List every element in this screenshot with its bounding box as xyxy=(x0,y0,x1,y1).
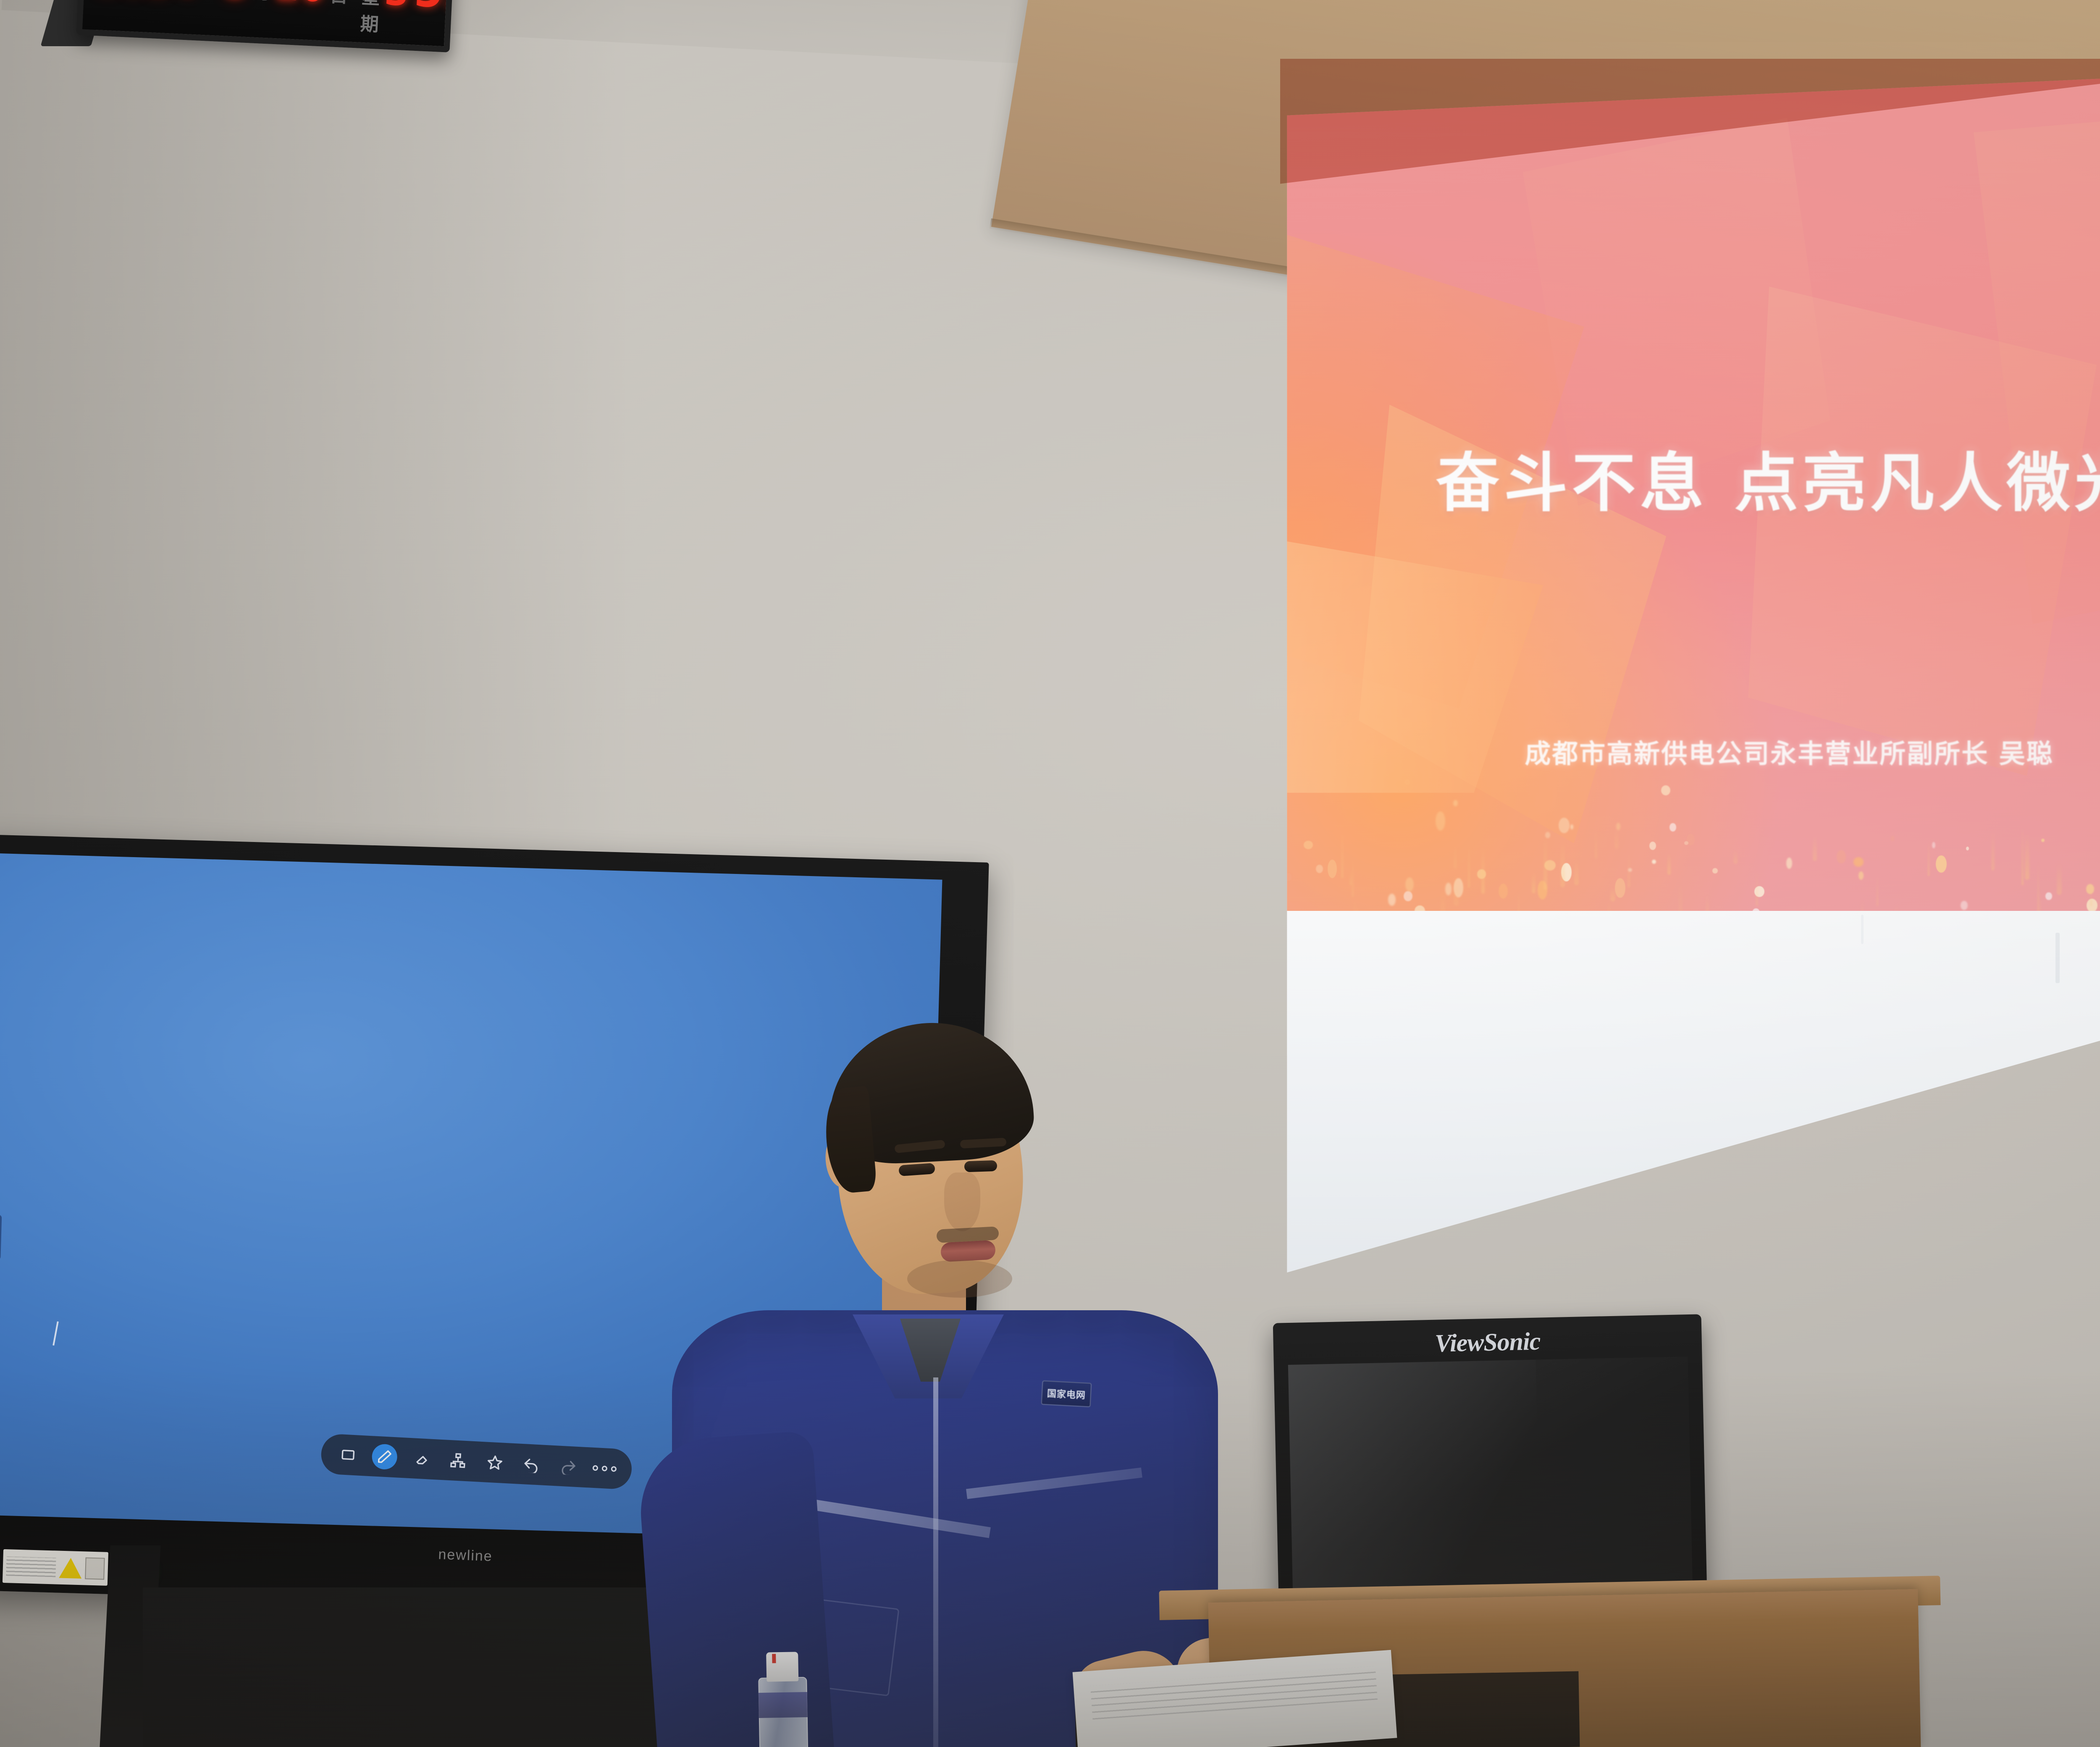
confetti-streak xyxy=(1627,850,1630,887)
confetti-streak xyxy=(1614,829,1619,849)
confetti-dot xyxy=(2041,839,2045,842)
clock-time: 51 xyxy=(413,0,454,11)
clock-week-label: 星期 xyxy=(360,0,381,37)
clock-month-unit: 月 xyxy=(252,0,272,5)
confetti-dot xyxy=(1936,855,1947,873)
confetti-dot xyxy=(1404,891,1412,902)
confetti-streak xyxy=(1543,836,1548,890)
confetti-dot xyxy=(1404,779,1410,785)
confetti-dot xyxy=(1853,857,1864,866)
confetti-streak xyxy=(1610,887,1616,901)
confetti-dot xyxy=(1304,841,1313,850)
confetti-streak xyxy=(2037,861,2039,913)
confetti-streak xyxy=(1574,859,1579,885)
confetti-dot xyxy=(1712,868,1718,873)
floor-shadow xyxy=(0,1369,2100,1747)
speaker-nose xyxy=(944,1173,980,1231)
speaker-chin-shadow xyxy=(907,1260,1012,1298)
clock-month: 3 xyxy=(223,0,250,3)
confetti-dot xyxy=(1453,800,1458,806)
confetti-streak xyxy=(1481,846,1485,894)
confetti-dot xyxy=(1405,877,1414,892)
confetti-streak xyxy=(1532,872,1535,894)
confetti-dot xyxy=(1388,894,1396,906)
clock-year: 2024 xyxy=(96,0,198,0)
confetti-dot xyxy=(1661,785,1670,795)
confetti-dot xyxy=(1932,842,1935,848)
slide-title: 奋斗不息 点亮凡人微光 xyxy=(1277,431,2100,524)
confetti-streak xyxy=(1756,871,1758,906)
slide-subtitle: 成都市高新供电公司永丰营业所副所长 吴聪 xyxy=(1277,732,2100,770)
clock-day: 20 xyxy=(275,0,327,6)
confetti-streak xyxy=(1667,852,1671,875)
speaker-mouth xyxy=(940,1240,996,1262)
confetti-streak xyxy=(2025,833,2029,880)
conference-room-scene: 2024 年 3 月 20 日 星期 3 51 奋斗不息 点亮凡人微光 成都市高… xyxy=(0,0,2100,1747)
confetti-dot xyxy=(1966,847,1969,851)
monitor-brand-label: ViewSonic xyxy=(1435,1327,1541,1358)
confetti-dot xyxy=(1649,842,1656,850)
confetti-streak xyxy=(1352,854,1354,897)
confetti-streak xyxy=(2057,863,2062,895)
confetti-dot xyxy=(1786,858,1792,869)
confetti-streak xyxy=(1454,842,1457,868)
confetti-dot xyxy=(1499,884,1508,899)
confetti-dot xyxy=(1837,850,1846,863)
confetti-dot xyxy=(1669,823,1676,832)
confetti-dot xyxy=(1436,811,1445,831)
confetti-dot xyxy=(1652,860,1656,864)
confetti-dot xyxy=(1615,878,1625,898)
confetti-dot xyxy=(1858,871,1864,879)
confetti-streak xyxy=(2021,827,2024,885)
confetti-streak xyxy=(1341,832,1344,878)
confetti-dot xyxy=(1684,841,1688,845)
confetti-dot xyxy=(1961,901,1968,910)
speaker-eye-right xyxy=(964,1160,997,1173)
confetti-dot xyxy=(2045,892,2052,900)
confetti-streak xyxy=(1991,832,1995,870)
confetti-dot xyxy=(1570,824,1573,829)
confetti-streak xyxy=(1560,837,1565,887)
clock-day-unit: 日 xyxy=(329,0,349,8)
confetti-streak xyxy=(2090,889,2092,906)
confetti-dot xyxy=(1316,865,1323,873)
confetti-streak xyxy=(1877,876,1878,906)
clock-year-unit: 年 xyxy=(200,0,220,2)
expand-panel-handle[interactable] xyxy=(0,1214,2,1260)
slide-bottom-mark-3 xyxy=(1861,915,1864,944)
clock-week-value: 3 xyxy=(384,0,411,10)
slide-bottom-mark-1 xyxy=(2055,933,2060,983)
confetti-streak xyxy=(1733,850,1738,864)
confetti-dot xyxy=(1328,860,1337,879)
confetti-streak xyxy=(1595,829,1597,858)
whiteboard-cursor xyxy=(52,1321,59,1346)
confetti-streak xyxy=(1468,839,1470,888)
confetti-dot xyxy=(1890,836,1895,841)
confetti-dot xyxy=(1559,818,1570,833)
confetti-streak xyxy=(1813,835,1817,861)
confetti-streak xyxy=(1454,873,1459,905)
confetti-streak xyxy=(1928,839,1930,876)
confetti-dot xyxy=(1445,883,1451,895)
